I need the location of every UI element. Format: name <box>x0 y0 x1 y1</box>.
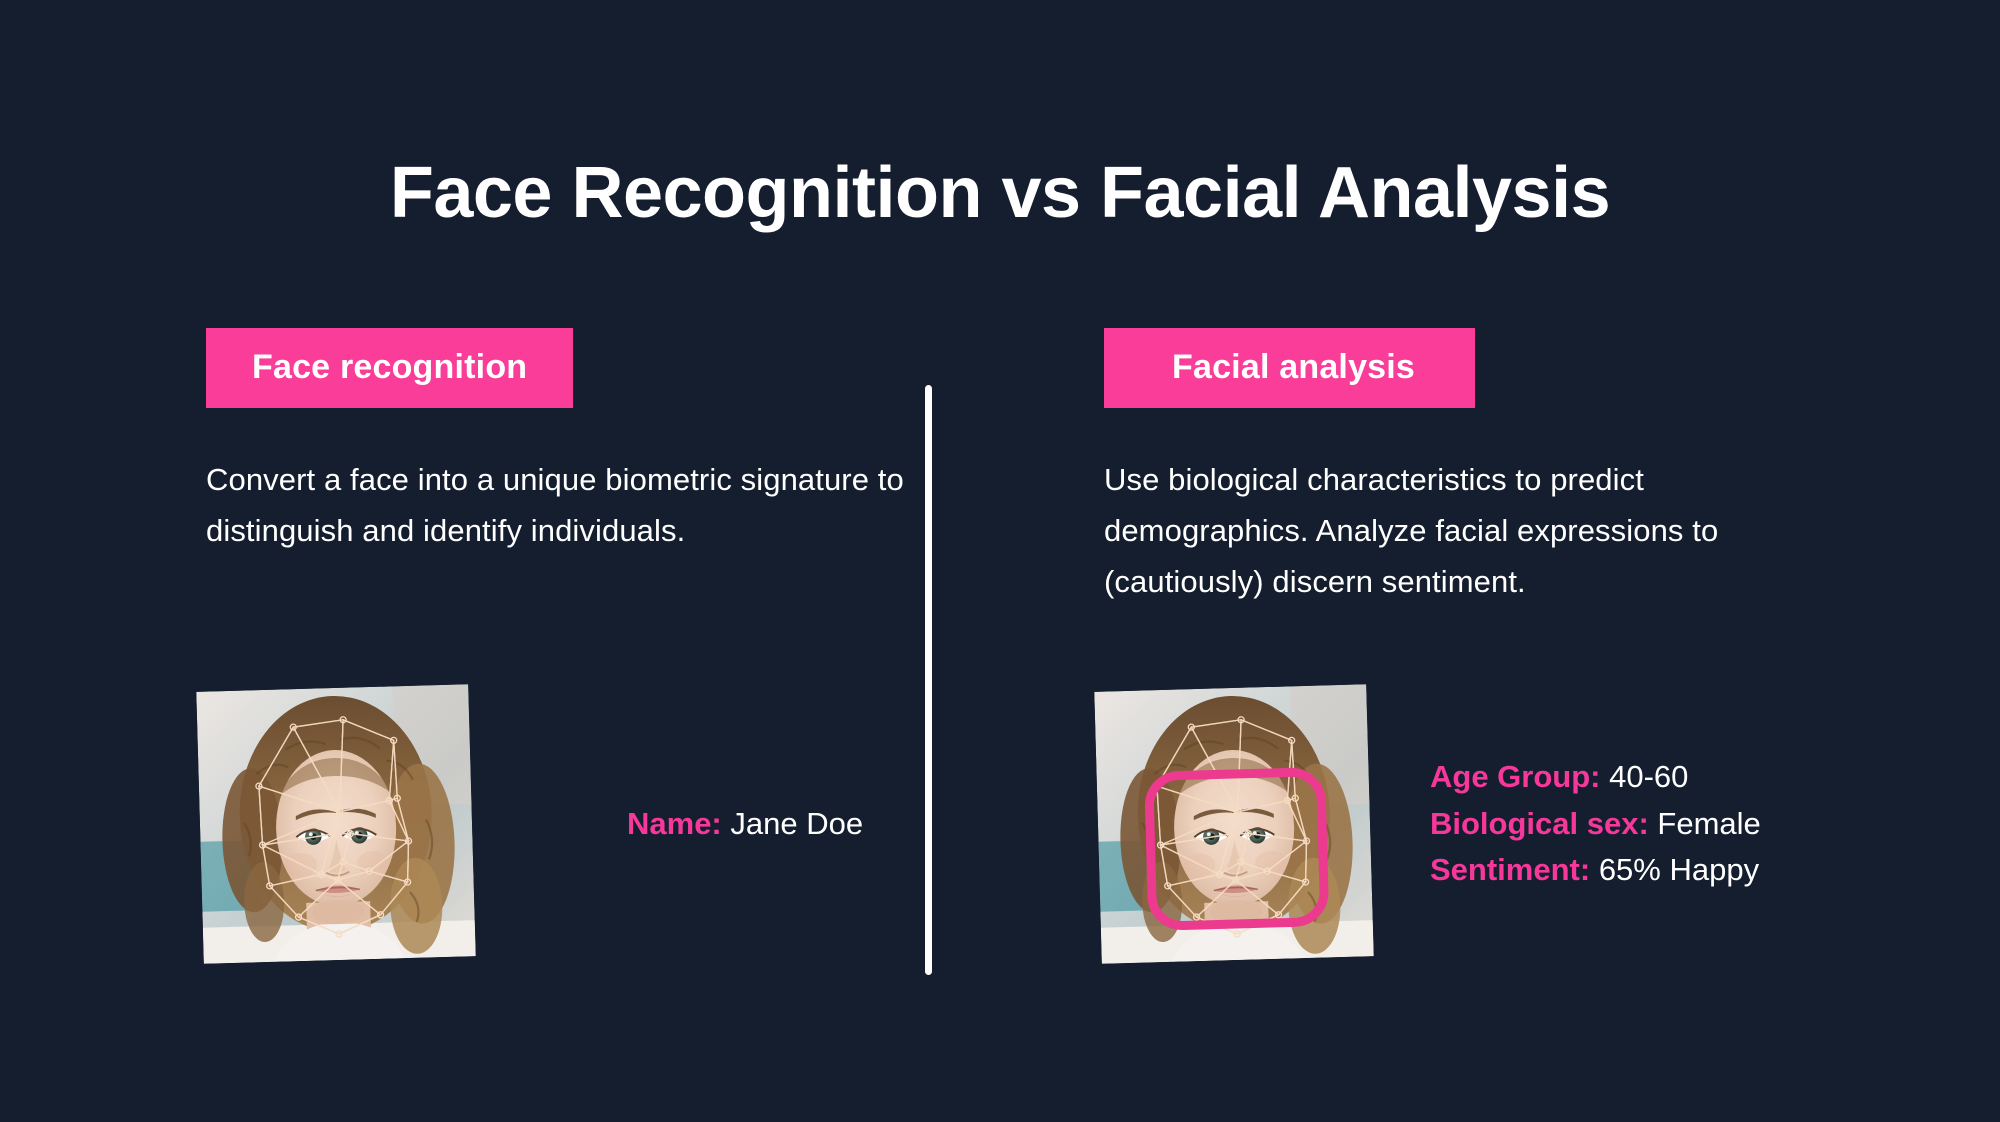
column-divider <box>925 385 932 975</box>
badge-facial-analysis: Facial analysis <box>1104 328 1475 408</box>
description-facial-analysis: Use biological characteristics to predic… <box>1104 454 1824 607</box>
result-key-biological-sex: Biological sex: <box>1430 806 1649 841</box>
result-key-name: Name: <box>627 806 722 841</box>
figure-row-face-recognition: Name: Jane Doe <box>200 688 900 960</box>
result-list-facial-analysis: Age Group: 40-60 Biological sex: Female … <box>1430 757 1761 892</box>
face-mesh-image-left <box>196 684 475 963</box>
result-value-age-group: 40-60 <box>1609 759 1688 794</box>
result-key-sentiment: Sentiment: <box>1430 852 1590 887</box>
result-row-biological-sex: Biological sex: Female <box>1430 804 1761 845</box>
result-list-face-recognition: Name: Jane Doe <box>627 804 863 845</box>
badge-face-recognition: Face recognition <box>206 328 573 408</box>
figure-row-facial-analysis: Age Group: 40-60 Biological sex: Female … <box>1098 688 1898 960</box>
result-row-age-group: Age Group: 40-60 <box>1430 757 1761 798</box>
page-title: Face Recognition vs Facial Analysis <box>0 156 2000 232</box>
result-value-sentiment: 65% Happy <box>1599 852 1759 887</box>
result-row-sentiment: Sentiment: 65% Happy <box>1430 850 1761 891</box>
column-facial-analysis: Facial analysis Use biological character… <box>1104 328 1864 638</box>
result-row-name: Name: Jane Doe <box>627 804 863 845</box>
result-key-age-group: Age Group: <box>1430 759 1601 794</box>
result-value-biological-sex: Female <box>1657 806 1760 841</box>
slide-root: Face Recognition vs Facial Analysis Face… <box>0 0 2000 1122</box>
result-value-name: Jane Doe <box>730 806 863 841</box>
face-photo-analysis <box>1094 684 1373 963</box>
face-photo-recognition <box>196 684 475 963</box>
column-face-recognition: Face recognition Convert a face into a u… <box>206 328 966 587</box>
description-face-recognition: Convert a face into a unique biometric s… <box>206 454 926 556</box>
face-mesh-image-right <box>1094 684 1373 963</box>
